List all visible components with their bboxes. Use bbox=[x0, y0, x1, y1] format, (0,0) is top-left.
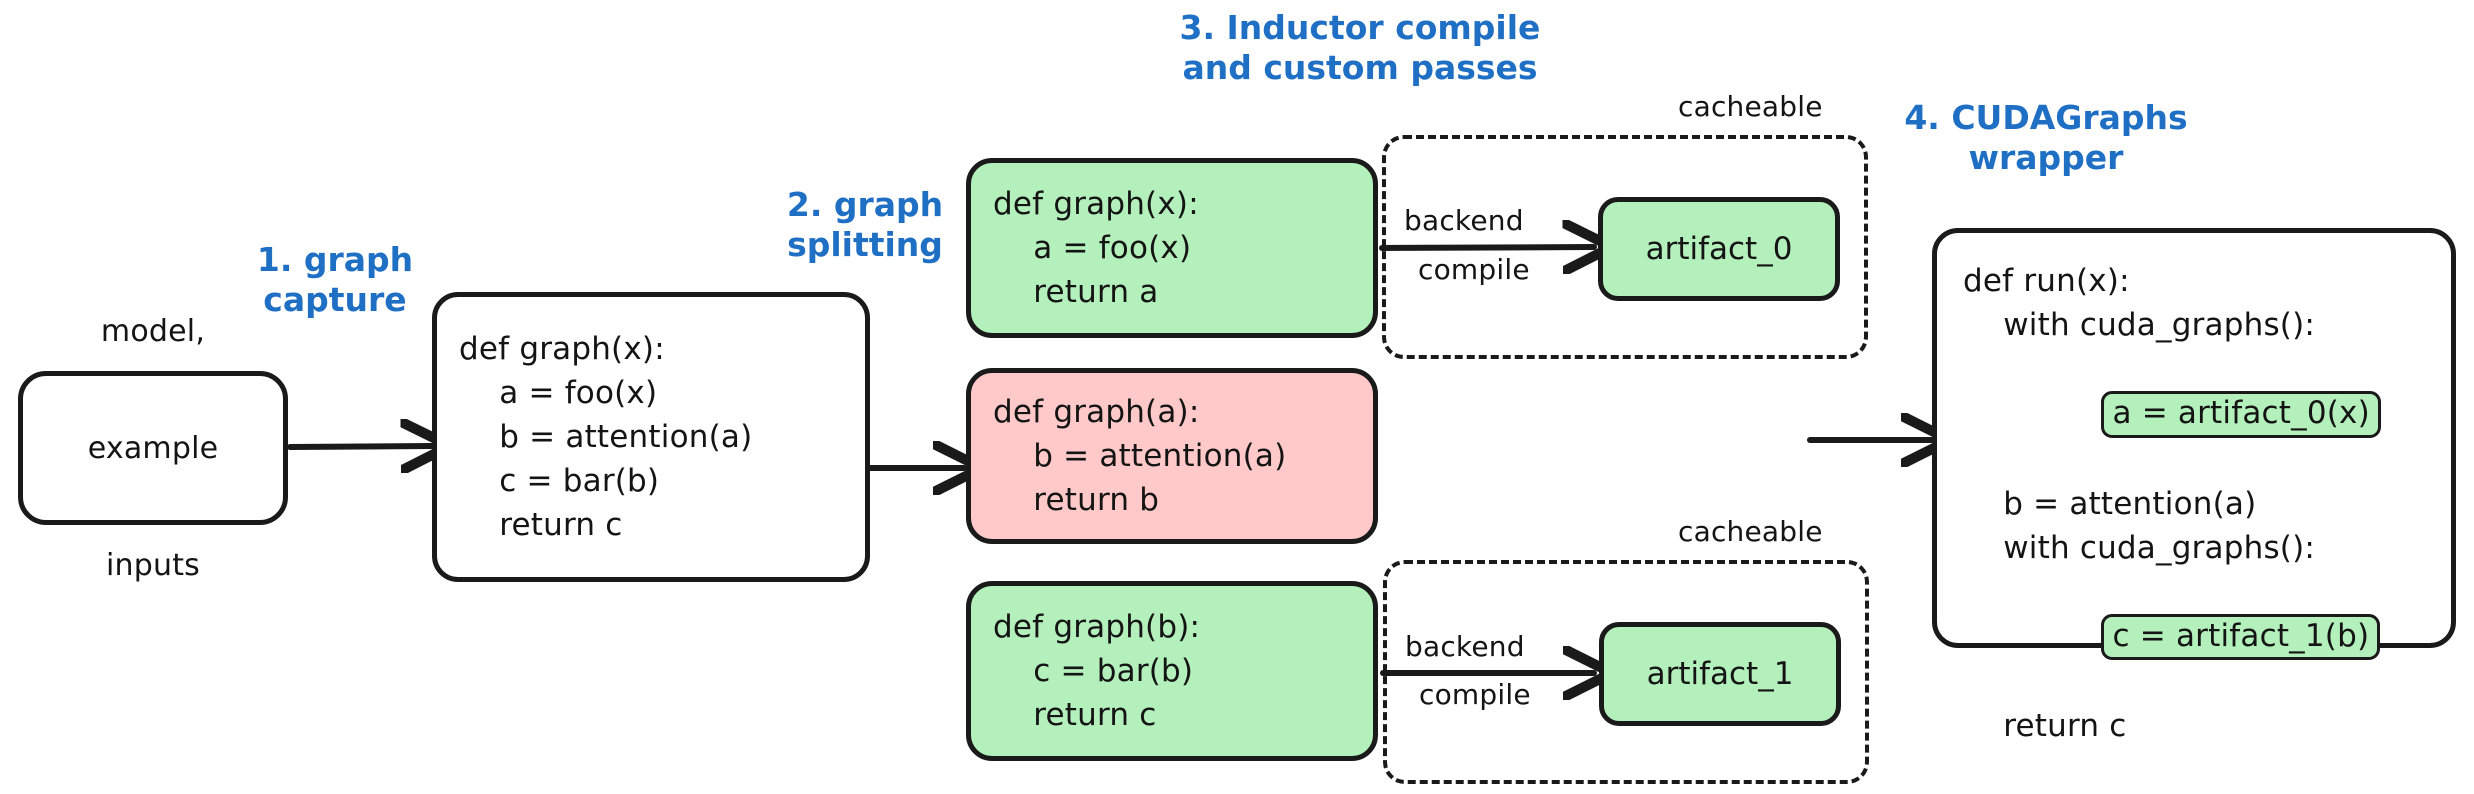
run-line-highlight-2: c = artifact_1(b) bbox=[1963, 570, 2451, 705]
compile-label-0: compile bbox=[1418, 252, 1530, 288]
artifact-call-0[interactable]: a = artifact_0(x) bbox=[2101, 391, 2380, 438]
input-box-text: model, example inputs bbox=[88, 234, 219, 663]
backend-label-0: backend bbox=[1404, 203, 1524, 239]
input-box[interactable]: model, example inputs bbox=[18, 371, 288, 525]
input-line-2: example bbox=[88, 429, 219, 468]
subgraph-bar-code: def graph(b): c = bar(b) return c bbox=[993, 605, 1373, 737]
stage-label-3: 3. Inductor compile and custom passes bbox=[1130, 8, 1590, 89]
subgraph-foo-code: def graph(x): a = foo(x) return a bbox=[993, 182, 1373, 314]
subgraph-box-attention[interactable]: def graph(a): b = attention(a) return b bbox=[966, 368, 1378, 544]
cacheable-label-0: cacheable bbox=[1678, 89, 1823, 125]
run-line-return: return c bbox=[1963, 704, 2451, 748]
cacheable-label-1: cacheable bbox=[1678, 514, 1823, 550]
captured-graph-box[interactable]: def graph(x): a = foo(x) b = attention(a… bbox=[432, 292, 870, 582]
artifact-box-0[interactable]: artifact_0 bbox=[1598, 197, 1840, 301]
input-line-3: inputs bbox=[88, 546, 219, 585]
run-line-with-1: with cuda_graphs(): bbox=[1963, 303, 2451, 347]
run-line-b: b = attention(a) bbox=[1963, 482, 2451, 526]
artifact-call-1[interactable]: c = artifact_1(b) bbox=[2101, 614, 2380, 661]
run-box[interactable]: def run(x): with cuda_graphs(): a = arti… bbox=[1932, 228, 2456, 648]
stage-label-4: 4. CUDAGraphs wrapper bbox=[1886, 98, 2206, 179]
subgraph-box-bar[interactable]: def graph(b): c = bar(b) return c bbox=[966, 581, 1378, 761]
captured-graph-code: def graph(x): a = foo(x) b = attention(a… bbox=[459, 327, 865, 547]
backend-label-1: backend bbox=[1405, 629, 1525, 665]
run-line-def: def run(x): bbox=[1963, 259, 2451, 303]
stage-label-2: 2. graph splitting bbox=[770, 185, 960, 266]
run-line-highlight-1: a = artifact_0(x) bbox=[1963, 347, 2451, 482]
artifact-label-0: artifact_0 bbox=[1646, 231, 1793, 267]
input-line-1: model, bbox=[88, 312, 219, 351]
artifact-box-1[interactable]: artifact_1 bbox=[1599, 622, 1841, 726]
compile-label-1: compile bbox=[1419, 677, 1531, 713]
run-line-with-2: with cuda_graphs(): bbox=[1963, 526, 2451, 570]
artifact-label-1: artifact_1 bbox=[1647, 656, 1794, 692]
subgraph-box-foo[interactable]: def graph(x): a = foo(x) return a bbox=[966, 158, 1378, 338]
subgraph-attention-code: def graph(a): b = attention(a) return b bbox=[993, 390, 1373, 522]
diagram-canvas: 1. graph capture model, example inputs 2… bbox=[0, 0, 2474, 794]
stage-label-1: 1. graph capture bbox=[240, 240, 430, 321]
